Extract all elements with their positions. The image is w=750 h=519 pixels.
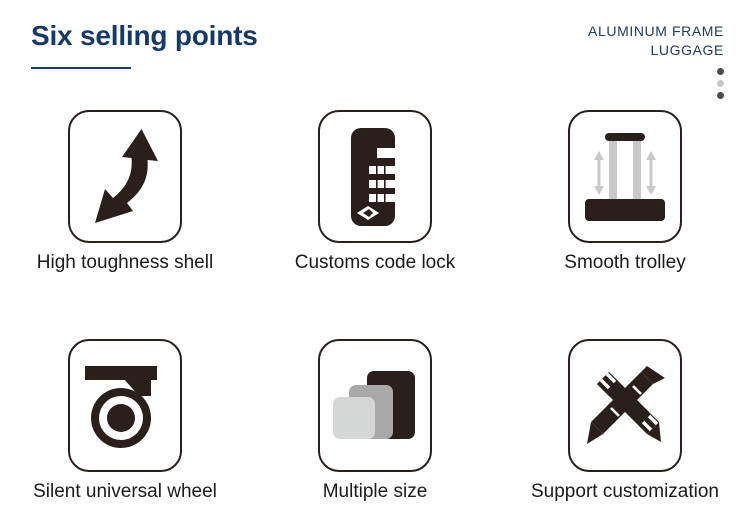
feature-row: Silent universal wheel Multiple size (0, 339, 750, 503)
brand-line-primary: ALUMINUM FRAME (588, 22, 724, 41)
feature-caption: Multiple size (323, 481, 428, 503)
combination-lock-icon (351, 128, 399, 226)
feature-item-high-toughness-shell[interactable]: High toughness shell (0, 110, 250, 274)
feature-caption: High toughness shell (37, 252, 213, 274)
caster-wheel-icon (81, 360, 169, 452)
pencil-ruler-icon (581, 362, 669, 450)
telescopic-trolley-handle-icon (579, 127, 671, 227)
feature-card[interactable] (568, 339, 682, 472)
stack-dot-3 (717, 92, 724, 99)
feature-caption: Smooth trolley (564, 252, 685, 274)
feature-caption: Support customization (531, 481, 719, 503)
feature-item-silent-universal-wheel[interactable]: Silent universal wheel (0, 339, 250, 503)
features-grid: High toughness shell (0, 110, 750, 503)
page-title: Six selling points (31, 20, 258, 52)
dot-stack (716, 68, 724, 99)
stack-dot-2 (717, 80, 724, 87)
feature-row: High toughness shell (0, 110, 750, 274)
brand-block: ALUMINUM FRAME LUGGAGE (588, 22, 724, 60)
feature-item-smooth-trolley[interactable]: Smooth trolley (500, 110, 750, 274)
brand-line-secondary: LUGGAGE (588, 41, 724, 60)
title-underline (31, 67, 131, 69)
feature-card[interactable] (318, 339, 432, 472)
feature-item-multiple-size[interactable]: Multiple size (250, 339, 500, 503)
feature-card[interactable] (68, 339, 182, 472)
feature-card[interactable] (68, 110, 182, 243)
feature-caption: Silent universal wheel (33, 481, 217, 503)
stacked-suitcases-icon (329, 367, 421, 445)
feature-card[interactable] (568, 110, 682, 243)
curved-double-arrow-icon (81, 125, 169, 229)
feature-item-support-customization[interactable]: Support customization (500, 339, 750, 503)
feature-caption: Customs code lock (295, 252, 456, 274)
stack-dot-1 (717, 68, 724, 75)
feature-card[interactable] (318, 110, 432, 243)
feature-item-customs-code-lock[interactable]: Customs code lock (250, 110, 500, 274)
